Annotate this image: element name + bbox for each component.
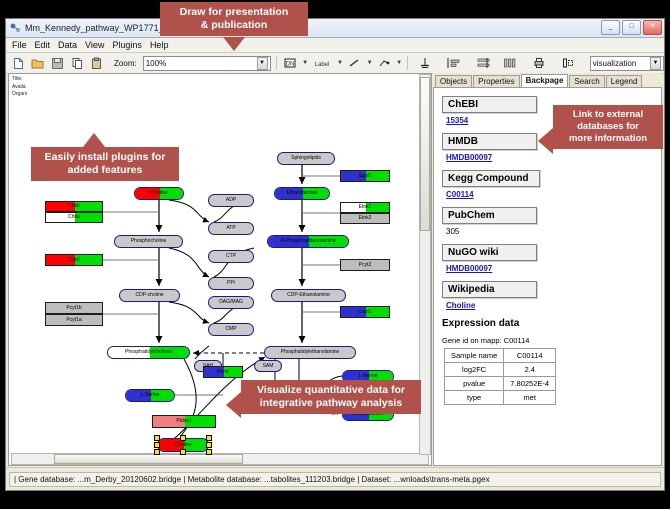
paste-icon[interactable] — [88, 55, 105, 72]
metabolite-node-ppi[interactable]: PPi — [208, 277, 254, 290]
gene-node-chka[interactable]: Chka — [45, 212, 103, 223]
table-row: log2FC 2.4 — [445, 363, 556, 377]
metabolite-node-o-phosphoethanolamine[interactable]: O-Phosphoethanolamine — [267, 235, 349, 248]
node-label: Chpt1 — [67, 258, 80, 263]
gene-node-ptdss1[interactable]: Ptdss1 — [152, 415, 216, 428]
zoom-value: 100% — [146, 59, 166, 68]
tab-properties[interactable]: Properties — [473, 75, 519, 87]
canvas-hscrollbar[interactable] — [11, 453, 429, 465]
selection-handle[interactable] — [180, 449, 186, 455]
gene-node-etnk1[interactable]: Etnk1 — [340, 202, 390, 213]
minimize-button[interactable]: _ — [601, 20, 620, 35]
gene-node-chpt1[interactable]: Chpt1 — [45, 254, 103, 266]
title-bar: Mm_Kennedy_pathway_WP1771_45176.gpml _ □… — [6, 19, 664, 38]
node-label: CMP — [225, 327, 236, 332]
gene-node-pcyt1b[interactable]: Pcyt1b — [45, 302, 103, 314]
node-label: Pcyt2 — [359, 263, 372, 268]
status-bar: | Gene database: ...m_Derby_20120602.bri… — [6, 467, 664, 490]
chevron-down-icon[interactable]: ▼ — [337, 60, 343, 66]
cell-label: log2FC — [445, 363, 504, 377]
gene-node-cept1[interactable]: Cept1 — [340, 306, 390, 318]
cell-value: 7.80252E-4 — [504, 377, 556, 391]
node-label: L-Serine — [141, 393, 160, 398]
metabolite-node-ethanolamine-top[interactable]: Ethanolamine — [274, 187, 330, 200]
callout-draw: Draw for presentation & publication — [160, 2, 308, 36]
main-area: Title: Availa Organi — [6, 71, 664, 468]
menu-bar: File Edit Data View Plugins Help — [6, 38, 664, 53]
metabolite-node-phosphatidylethanolamine[interactable]: Phosphatidylethanolamine — [264, 346, 356, 359]
chevron-down-icon[interactable]: ▼ — [367, 60, 373, 66]
callout-link-line3: more information — [561, 133, 655, 145]
gene-node-pcyt1a[interactable]: Pcyt1a — [45, 314, 103, 326]
callout-plugins-line2: added features — [39, 164, 171, 177]
callout-plugins: Easily install plugins for added feature… — [31, 147, 179, 181]
metabolite-node-dag-mag[interactable]: DAG/MAG — [208, 296, 254, 309]
menu-help[interactable]: Help — [150, 40, 169, 50]
cell-label: type — [445, 391, 504, 405]
gene-node-chkb[interactable]: Chkb — [45, 201, 103, 212]
menu-view[interactable]: View — [85, 40, 104, 50]
gene-node-etnk2[interactable]: Etnk2 — [340, 213, 390, 224]
tab-legend[interactable]: Legend — [606, 75, 643, 87]
svg-text:Label: Label — [315, 62, 330, 68]
cell-value: C00114 — [504, 349, 556, 363]
menu-plugins[interactable]: Plugins — [112, 40, 142, 50]
node-label: SAH — [203, 364, 213, 369]
align-icon[interactable] — [445, 55, 465, 72]
node-label: ATP — [226, 226, 235, 231]
table-row: Sample name C00114 — [445, 349, 556, 363]
node-label: O-Phosphoethanolamine — [280, 239, 335, 244]
chevron-down-icon[interactable]: ▼ — [650, 57, 661, 70]
selection-handle[interactable] — [206, 435, 212, 441]
wikipedia-link[interactable]: Choline — [446, 301, 653, 310]
callout-plugins-line1: Easily install plugins for — [39, 151, 171, 164]
cell-value: 2.4 — [504, 363, 556, 377]
pubchem-value: 305 — [446, 227, 653, 236]
selection-handle[interactable] — [206, 449, 212, 455]
node-label: Ethanolamine — [287, 191, 318, 196]
window-buttons: _ □ ✕ — [601, 20, 662, 35]
toolbar-separator — [276, 56, 277, 70]
callout-visualize-line1: Visualize quantitative data for — [249, 384, 413, 397]
chevron-down-icon[interactable]: ▼ — [396, 60, 402, 66]
nugowiki-link[interactable]: HMDB00097 — [446, 264, 653, 273]
toolbar-separator — [407, 56, 408, 70]
callout-plugins-arrow — [83, 133, 105, 147]
maximize-button[interactable]: □ — [622, 20, 641, 35]
callout-draw-line1: Draw for presentation — [168, 6, 300, 19]
expression-data-title: Expression data — [442, 318, 653, 329]
node-label: ADP — [226, 198, 236, 203]
callout-visualize: Visualize quantitative data for integrat… — [241, 380, 421, 414]
metabolite-node-phosphocholine[interactable]: Phosphocholine — [114, 235, 183, 248]
metabolite-node-phosphatidylcholines[interactable]: Phosphatidylcholines — [107, 346, 190, 359]
zoom-combo[interactable]: 100% ▼ — [143, 56, 271, 71]
menu-file[interactable]: File — [12, 40, 27, 50]
copy-icon[interactable] — [69, 55, 86, 72]
nugowiki-header: NuGO wiki — [442, 244, 537, 261]
callout-draw-arrow — [223, 37, 245, 51]
gene-node-pcyt2[interactable]: Pcyt2 — [340, 259, 390, 271]
node-label: Choline — [151, 191, 168, 196]
callout-draw-line2: & publication — [168, 19, 300, 32]
chevron-down-icon[interactable]: ▼ — [257, 57, 268, 70]
node-label: Phosphocholine — [131, 239, 167, 244]
node-label: Phosphatidylcholines — [125, 350, 172, 355]
gene-node-sgpl1[interactable]: Sgpl1 — [340, 170, 390, 182]
menu-edit[interactable]: Edit — [35, 40, 51, 50]
kegg-link[interactable]: C00114 — [446, 190, 653, 199]
callout-link-line1: Link to external — [561, 109, 655, 121]
metabolite-node-adp[interactable]: ADP — [208, 194, 254, 207]
node-label: Cept1 — [358, 310, 371, 315]
metabolite-node-l-serine-left[interactable]: L-Serine — [125, 389, 175, 402]
visualization-combo[interactable]: visualization ▼ — [590, 56, 664, 71]
metabolite-node-cdp-ethanolamine[interactable]: CDP-Ethanolamine — [271, 289, 346, 302]
metabolite-node-cdp-choline[interactable]: CDP-choline — [119, 289, 180, 302]
selection-handle[interactable] — [206, 442, 212, 448]
label-icon[interactable]: Label — [311, 55, 333, 72]
svg-text:DN: DN — [285, 62, 294, 68]
group-icon[interactable] — [560, 55, 577, 72]
datanode-icon[interactable]: DN — [281, 55, 298, 72]
node-label: CDP-Ethanolamine — [287, 293, 330, 298]
print-icon[interactable] — [531, 55, 548, 72]
node-label: Phosphatidylethanolamine — [281, 350, 340, 355]
hmdb-link[interactable]: HMDB00097 — [446, 153, 653, 162]
node-label: Ptdss1 — [176, 419, 191, 424]
line-icon[interactable] — [346, 55, 363, 72]
table-row: type met — [445, 391, 556, 405]
metabolite-node-sam[interactable]: SAM — [254, 360, 282, 372]
scroll-thumb[interactable] — [54, 454, 243, 464]
chevron-down-icon[interactable]: ▼ — [302, 60, 308, 66]
metabolite-node-choline-top[interactable]: Choline — [134, 187, 184, 200]
pubchem-header: PubChem — [442, 207, 537, 224]
side-panel: Objects Properties Backpage Search Legen… — [433, 73, 662, 466]
metabolite-node-cmp[interactable]: CMP — [208, 323, 254, 336]
node-label: DAG/MAG — [219, 300, 243, 305]
cell-label: pvalue — [445, 377, 504, 391]
tab-backpage[interactable]: Backpage — [521, 74, 569, 87]
cell-label: Sample name — [445, 349, 504, 363]
callout-visualize-line2: integrative pathway analysis — [249, 397, 413, 410]
visualization-value: visualization — [593, 59, 637, 68]
callout-visualize-arrow — [226, 392, 241, 418]
selection-handle[interactable] — [154, 435, 160, 441]
node-label: Pcyt1b — [66, 306, 81, 311]
metabolite-node-ctp[interactable]: CTP — [208, 250, 254, 263]
node-label: Pemt — [217, 370, 229, 375]
tab-search[interactable]: Search — [569, 75, 604, 87]
zoom-label: Zoom: — [114, 59, 137, 68]
tab-objects[interactable]: Objects — [435, 75, 472, 87]
node-label: Chkb — [68, 204, 80, 209]
kegg-header: Kegg Compound — [442, 170, 540, 187]
chebi-header: ChEBI — [442, 96, 537, 113]
callout-link-arrow — [538, 128, 553, 154]
pathway-canvas[interactable]: Title: Availa Organi — [8, 73, 432, 466]
selection-handle[interactable] — [154, 449, 160, 455]
node-label: Chka — [68, 215, 80, 220]
expression-table: Sample name C00114 log2FC 2.4 pvalue 7.8… — [444, 348, 556, 405]
selection-handle[interactable] — [180, 435, 186, 441]
callout-link-line2: databases for — [561, 121, 655, 133]
scroll-thumb[interactable] — [420, 77, 430, 231]
distribute-icon[interactable] — [502, 55, 518, 72]
node-label: L-Serine — [359, 374, 378, 379]
status-text: | Gene database: ...m_Derby_20120602.bri… — [9, 472, 661, 487]
anchor-icon[interactable] — [417, 55, 434, 72]
node-label: Etnk1 — [359, 205, 372, 210]
hmdb-header: HMDB — [442, 133, 537, 150]
table-row: pvalue 7.80252E-4 — [445, 377, 556, 391]
gene-id-line: Gene id on mapp: C00114 — [442, 336, 653, 345]
node-label: Etnk2 — [359, 216, 372, 221]
pathvisio-window: Mm_Kennedy_pathway_WP1771_45176.gpml _ □… — [5, 18, 665, 491]
wikipedia-header: Wikipedia — [442, 281, 537, 298]
open-folder-icon[interactable] — [30, 55, 47, 72]
callout-link: Link to external databases for more info… — [553, 105, 663, 149]
interaction-icon[interactable] — [376, 55, 393, 72]
node-label: CTP — [226, 254, 236, 259]
node-label: Sgpl1 — [359, 174, 372, 179]
node-label: CDP-choline — [135, 293, 163, 298]
metabolite-node-sphingolipids[interactable]: Sphingolipids — [277, 152, 335, 165]
node-label: Sphingolipids — [291, 156, 321, 161]
node-label: Pcyt1a — [66, 318, 81, 323]
cell-value: met — [504, 391, 556, 405]
node-label: SAM — [263, 364, 274, 369]
save-icon[interactable] — [49, 55, 66, 72]
node-label: Choline — [175, 443, 192, 448]
side-panel-tabs: Objects Properties Backpage Search Legen… — [433, 73, 662, 88]
stack-icon[interactable] — [475, 55, 491, 72]
pathvisio-icon — [9, 22, 21, 34]
new-file-icon[interactable] — [10, 55, 27, 72]
menu-data[interactable]: Data — [58, 40, 77, 50]
selection-handle[interactable] — [154, 442, 160, 448]
metabolite-node-atp[interactable]: ATP — [208, 222, 254, 235]
node-label: PPi — [227, 281, 235, 286]
close-button[interactable]: ✕ — [643, 20, 662, 35]
